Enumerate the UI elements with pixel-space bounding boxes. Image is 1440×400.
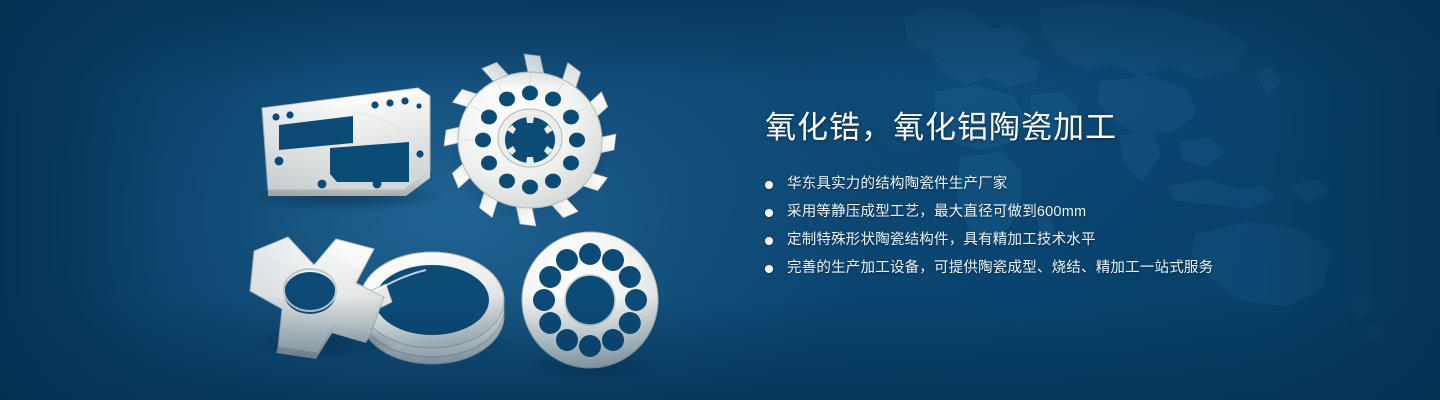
feature-text: 采用等静压成型工艺，最大直径可做到600mm xyxy=(787,203,1086,222)
feature-text: 定制特殊形状陶瓷结构件，具有精加工技术水平 xyxy=(787,231,1096,250)
feature-text: 完善的生产加工设备，可提供陶瓷成型、烧结、精加工一站式服务 xyxy=(787,259,1213,278)
list-item: 华东具实力的结构陶瓷件生产厂家 xyxy=(765,175,1385,194)
list-item: 完善的生产加工设备，可提供陶瓷成型、烧结、精加工一站式服务 xyxy=(765,259,1385,278)
banner-copy: 氧化锆，氧化铝陶瓷加工 华东具实力的结构陶瓷件生产厂家 采用等静压成型工艺，最大… xyxy=(765,108,1385,287)
list-item: 采用等静压成型工艺，最大直径可做到600mm xyxy=(765,203,1385,222)
banner-feature-list: 华东具实力的结构陶瓷件生产厂家 采用等静压成型工艺，最大直径可做到600mm 定… xyxy=(765,175,1385,278)
bullet-dot-icon xyxy=(765,237,773,245)
feature-text: 华东具实力的结构陶瓷件生产厂家 xyxy=(787,175,1008,194)
bullet-dot-icon xyxy=(765,209,773,217)
banner-headline: 氧化锆，氧化铝陶瓷加工 xyxy=(765,108,1385,148)
bullet-dot-icon xyxy=(765,181,773,189)
bullet-dot-icon xyxy=(765,265,773,273)
list-item: 定制特殊形状陶瓷结构件，具有精加工技术水平 xyxy=(765,231,1385,250)
hero-banner: 氧化锆，氧化铝陶瓷加工 华东具实力的结构陶瓷件生产厂家 采用等静压成型工艺，最大… xyxy=(0,0,1440,400)
